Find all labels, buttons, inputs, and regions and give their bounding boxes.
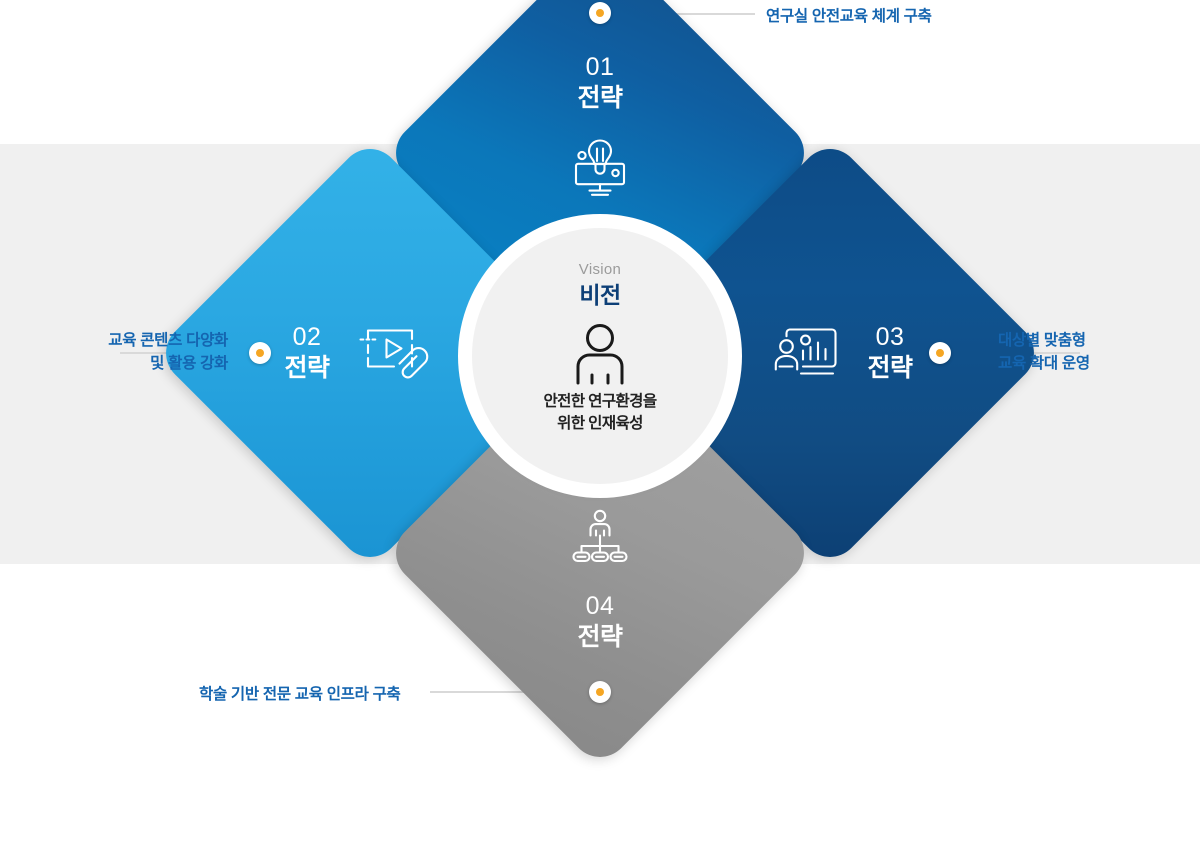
- orange-dot-icon: [256, 349, 264, 357]
- caption-line: 연구실 안전교육 체계 구축: [766, 5, 932, 28]
- strategy-number-04: 04: [586, 591, 615, 622]
- monitor-lightbulb-icon: [569, 138, 631, 198]
- caption-line: 학술 기반 전문 교육 인프라 구축: [199, 683, 401, 706]
- strategy-label-03: 전략: [867, 353, 912, 384]
- org-chart-icon: [571, 509, 629, 565]
- orange-dot-icon: [596, 9, 604, 17]
- orange-dot-icon: [936, 349, 944, 357]
- connector-dot-bottom[interactable]: [589, 681, 611, 703]
- strategy-diagram: 연구실 안전교육 체계 구축 교육 콘텐츠 다양화 및 활용 강화 대상별 맞춤…: [0, 0, 1200, 708]
- connector-dot-right[interactable]: [929, 342, 951, 364]
- caption-line: 교육 확대 운영: [998, 352, 1090, 375]
- vision-description-line2: 위한 인재육성: [544, 413, 657, 435]
- strategy-label-02: 전략: [284, 353, 329, 384]
- connector-dot-left[interactable]: [249, 342, 271, 364]
- caption-strategy-04: 학술 기반 전문 교육 인프라 구축: [199, 683, 401, 706]
- video-attachment-icon: [358, 322, 430, 384]
- caption-line: 교육 콘텐츠 다양화: [0, 329, 228, 352]
- caption-line: 대상별 맞춤형: [998, 329, 1090, 352]
- connector-dot-top[interactable]: [589, 2, 611, 24]
- strategy-label-04: 전략: [577, 622, 622, 653]
- strategy-number-03: 03: [876, 322, 905, 353]
- strategy-number-01: 01: [586, 52, 615, 83]
- orange-dot-icon: [596, 688, 604, 696]
- caption-strategy-02: 교육 콘텐츠 다양화 및 활용 강화: [0, 329, 228, 376]
- presentation-chart-person-icon: [773, 323, 839, 383]
- strategy-number-02: 02: [293, 322, 322, 353]
- caption-strategy-03: 대상별 맞춤형 교육 확대 운영: [998, 329, 1090, 376]
- vision-description: 안전한 연구환경을 위한 인재육성: [544, 391, 657, 435]
- vision-en-label: Vision: [579, 261, 621, 279]
- strategy-label-01: 전략: [577, 83, 622, 114]
- caption-line: 및 활용 강화: [0, 352, 228, 375]
- vision-description-line1: 안전한 연구환경을: [544, 391, 657, 413]
- caption-strategy-01: 연구실 안전교육 체계 구축: [766, 5, 932, 28]
- vision-ko-title: 비전: [579, 280, 620, 311]
- person-icon: [572, 323, 628, 385]
- vision-circle: Vision 비전 안전한 연구환경을 위한 인재육성: [472, 228, 728, 484]
